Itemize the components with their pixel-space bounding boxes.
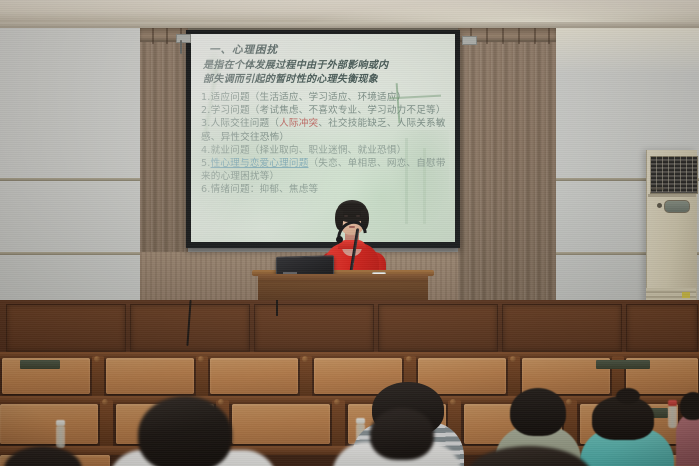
bench-knob bbox=[218, 399, 224, 405]
slide-item-3-number: 3. bbox=[201, 118, 211, 129]
slide-item-3-text: 人际交往问题（ bbox=[211, 118, 280, 129]
slide-item-1-number: 1. bbox=[201, 92, 211, 103]
wall-trim bbox=[0, 252, 140, 255]
curtain-pleat bbox=[152, 28, 154, 44]
water-bottle[interactable] bbox=[668, 406, 677, 428]
bench-knob bbox=[566, 399, 572, 405]
bench-seatback bbox=[232, 404, 330, 444]
projection-screen: 一、心理困扰 是指在个体发展过程中由于外部影响或内 部失调而引起的暂时性的心理失… bbox=[191, 34, 455, 242]
water-bottle[interactable] bbox=[56, 426, 65, 448]
slide-definition-line-1: 是指在个体发展过程中由于外部影响或内 bbox=[203, 59, 448, 73]
water-bottle-cap bbox=[56, 420, 65, 426]
air-conditioner-sensor bbox=[657, 203, 662, 208]
wall-wainscot-panel bbox=[254, 304, 374, 352]
microphone-capsule[interactable] bbox=[336, 236, 343, 243]
presenter-eye bbox=[344, 215, 348, 217]
air-conditioner-band bbox=[648, 194, 696, 197]
bench-divider bbox=[196, 356, 208, 398]
air-conditioner-label bbox=[682, 292, 690, 298]
slide-list-item-4: 4.就业问题（择业取向、职业迷惘、就业恐惧） bbox=[201, 144, 448, 157]
slide-item-1-text: 适应问题（生活适应、学习适应、环境适应） bbox=[211, 92, 407, 103]
bench-divider bbox=[92, 356, 104, 398]
bench-knob bbox=[406, 356, 412, 362]
lecture-hall-photo: 一、心理困扰 是指在个体发展过程中由于外部影响或内 部失调而引起的暂时性的心理失… bbox=[0, 0, 699, 466]
curtain-pleat bbox=[518, 28, 520, 44]
curtain-pleat bbox=[486, 28, 488, 44]
audience-head bbox=[370, 408, 434, 460]
audience-head bbox=[138, 396, 232, 466]
hanging-cable bbox=[276, 300, 278, 316]
presenter-eye bbox=[356, 215, 360, 217]
bench-desk-plate bbox=[596, 360, 650, 369]
slide-item-6-text: 情绪问题：抑郁、焦虑等 bbox=[211, 184, 319, 195]
bench-knob bbox=[94, 356, 100, 362]
wall-wainscot-panel bbox=[378, 304, 498, 352]
slide-item-4-text: 就业问题（择业取向、职业迷惘、就业恐惧） bbox=[211, 145, 407, 156]
bench-divider bbox=[100, 400, 113, 448]
slide-item-4-number: 4. bbox=[201, 145, 211, 156]
curtain-pleat bbox=[534, 28, 536, 44]
bench-seatback bbox=[0, 404, 98, 444]
audience-hair-bun bbox=[616, 388, 640, 404]
wall-wainscot-panel bbox=[6, 304, 126, 352]
slide-item-6-number: 6. bbox=[201, 184, 211, 195]
wall-wainscot-panel bbox=[502, 304, 622, 352]
wall-wainscot-panel bbox=[626, 304, 698, 352]
slide-list-item-5: 5.性心理与恋爱心理问题（失恋、单相思、网恋、自慰带来的心理困扰等） bbox=[201, 157, 448, 183]
audience-head bbox=[510, 388, 566, 436]
slide-item-2-number: 2. bbox=[201, 105, 211, 116]
ceiling-light-glow bbox=[300, 0, 699, 22]
slide-item-5-number: 5. bbox=[201, 158, 211, 169]
slide-item-3-highlight: 人际冲突 bbox=[279, 118, 318, 129]
curtain-pleat bbox=[166, 28, 168, 44]
bench-divider bbox=[300, 356, 312, 398]
bench-knob bbox=[102, 399, 108, 405]
audience-far-right bbox=[676, 412, 699, 466]
bench-knob bbox=[510, 356, 516, 362]
screen-mount-left bbox=[176, 34, 191, 43]
air-conditioner-logo bbox=[652, 187, 664, 190]
audience-seating-area bbox=[0, 300, 699, 466]
audience-head bbox=[680, 392, 699, 420]
curtain-pleat bbox=[548, 28, 550, 44]
bench-desk-plate bbox=[20, 360, 60, 369]
bench-divider bbox=[508, 356, 520, 398]
water-bottle-cap bbox=[668, 400, 677, 406]
bench-knob bbox=[450, 399, 456, 405]
bench-knob bbox=[334, 399, 340, 405]
bench-knob bbox=[198, 356, 204, 362]
slide-list-item-6: 6.情绪问题：抑郁、焦虑等 bbox=[201, 183, 448, 196]
water-bottle-cap bbox=[356, 418, 365, 424]
wall-trim bbox=[0, 178, 140, 181]
bench-knob bbox=[302, 356, 308, 362]
window-curtain-right bbox=[458, 28, 556, 310]
wall-light-glow bbox=[556, 28, 699, 74]
bench-seatback bbox=[210, 358, 298, 394]
presenter-fringe bbox=[340, 203, 364, 211]
screen-cable bbox=[180, 40, 182, 54]
slide-item-5-hyperlink[interactable]: 性心理与恋爱心理问题 bbox=[211, 158, 309, 169]
curtain-pleat bbox=[502, 28, 504, 44]
wall-panel-left bbox=[0, 28, 140, 303]
slide-handdrawn-mark bbox=[396, 81, 435, 123]
screen-mount-right bbox=[462, 36, 477, 45]
slide-content: 一、心理困扰 是指在个体发展过程中由于外部影响或内 部失调而引起的暂时性的心理失… bbox=[191, 34, 455, 242]
bench-divider bbox=[332, 400, 345, 448]
bench-seatback bbox=[106, 358, 194, 394]
air-conditioner-display-panel[interactable] bbox=[664, 200, 690, 213]
slide-heading: 一、心理困扰 bbox=[209, 42, 448, 57]
